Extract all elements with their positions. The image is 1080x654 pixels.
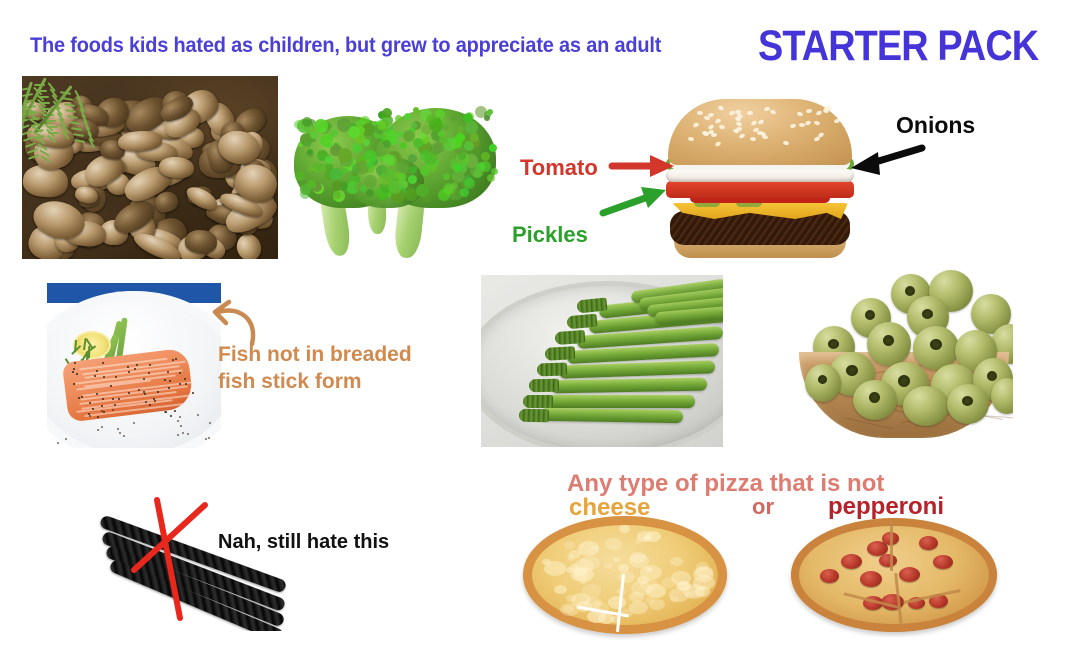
pepperoni-slice <box>860 571 882 587</box>
broccoli-bud <box>420 150 431 161</box>
melted-cheese-blob <box>608 596 626 609</box>
melted-cheese-blob <box>566 567 575 573</box>
broccoli-bud <box>377 121 386 130</box>
broccoli-bud <box>382 167 395 180</box>
burger-onion-slice <box>666 169 854 182</box>
asparagus-tip <box>523 395 553 408</box>
melted-cheese-blob <box>629 592 644 602</box>
broccoli-bud <box>438 189 450 201</box>
broccoli-bud <box>487 109 493 115</box>
melted-cheese-blob <box>591 545 599 550</box>
broccoli-bud <box>457 126 464 133</box>
broccoli-bud <box>410 122 417 129</box>
melted-cheese-blob <box>619 525 630 533</box>
broccoli-bud <box>388 180 402 194</box>
title-bar: The foods kids hated as children, but gr… <box>0 28 1080 76</box>
melted-cheese-blob <box>645 531 661 542</box>
melted-cheese-blob <box>613 557 620 562</box>
broccoli-bud <box>398 173 406 181</box>
asparagus-spear <box>541 408 683 423</box>
melted-cheese-blob <box>568 556 575 561</box>
broccoli-bud <box>342 168 348 174</box>
sesame-seed <box>799 123 805 127</box>
label-nah-still-hate-this: Nah, still hate this <box>218 531 389 554</box>
olive <box>991 378 1013 414</box>
left-arrow-black-icon <box>851 148 922 175</box>
pepperoni-slice <box>879 554 897 567</box>
broccoli-bud <box>411 166 417 172</box>
olive-pit-hole <box>905 286 915 296</box>
olive-pit-hole <box>922 309 933 319</box>
melted-cheese-blob <box>676 581 690 591</box>
photo-broccoli <box>288 98 505 261</box>
broccoli-bud <box>439 135 448 144</box>
broccoli-bud <box>400 142 407 149</box>
broccoli-bud <box>455 148 461 154</box>
label-pizza-cheese: cheese <box>569 494 650 522</box>
page-title: The foods kids hated as children, but gr… <box>30 34 661 58</box>
asparagus-tip <box>566 314 597 330</box>
label-onions: Onions <box>896 112 975 139</box>
broccoli-bud <box>460 188 469 197</box>
meme-canvas: The foods kids hated as children, but gr… <box>0 0 1080 654</box>
label-pizza-pepperoni: pepperoni <box>828 493 944 521</box>
broccoli-bud <box>300 184 311 195</box>
burger-tomato-slice <box>666 181 854 198</box>
melted-cheese-blob <box>542 559 551 565</box>
broccoli-bud <box>408 175 417 184</box>
melted-cheese-blob <box>685 592 694 598</box>
broccoli-bud <box>383 140 391 148</box>
pepperoni-slice <box>899 567 920 582</box>
melted-cheese-blob <box>693 575 715 590</box>
broccoli-bud <box>481 152 490 161</box>
melted-cheese-blob <box>646 584 666 598</box>
melted-cheese-blob <box>554 585 567 594</box>
photo-licorice <box>95 486 310 631</box>
broccoli-bud <box>491 168 498 175</box>
olive-pit-hole <box>865 310 875 320</box>
burger-patty <box>670 211 850 245</box>
broccoli-bud <box>366 162 372 168</box>
broccoli-bud <box>382 108 392 118</box>
pizza-slice-cut <box>890 521 893 571</box>
photo-olives <box>795 268 1013 448</box>
photo-asparagus <box>481 275 723 447</box>
asparagus-spear <box>551 378 707 394</box>
pepperoni-slice <box>820 569 839 583</box>
melted-cheese-blob <box>629 601 648 614</box>
sesame-seed <box>747 111 753 115</box>
olive-pit-hole <box>930 339 942 350</box>
broccoli-bud <box>484 115 490 121</box>
melted-cheese-blob <box>573 567 594 582</box>
asparagus-tip <box>555 330 586 345</box>
melted-cheese-blob <box>618 564 629 572</box>
olive-pit-hole <box>828 339 839 349</box>
pepperoni-slice <box>933 555 953 569</box>
pepperoni-slice <box>841 554 862 569</box>
broccoli-bud <box>295 171 305 181</box>
label-tomato: Tomato <box>520 155 598 181</box>
broccoli-bud <box>395 115 402 122</box>
broccoli-bud <box>480 161 491 172</box>
label-pizza-or: or <box>752 494 774 520</box>
melted-cheese-blob <box>604 563 613 569</box>
olive-pit-hole <box>962 396 973 406</box>
pepper-speck <box>208 437 210 439</box>
broccoli-bud <box>413 138 423 148</box>
olive-pit-hole <box>818 375 827 384</box>
broccoli-bud <box>352 143 362 153</box>
broccoli-bud <box>330 168 342 180</box>
olive-pit-hole <box>869 392 880 403</box>
pepper-speck <box>57 442 59 444</box>
photo-pizza-cheese <box>515 512 735 640</box>
asparagus-tip <box>529 379 559 393</box>
broccoli-bud <box>348 126 360 138</box>
melted-cheese-blob <box>645 597 655 604</box>
broccoli-bud <box>302 117 312 127</box>
melted-cheese-blob <box>571 593 591 607</box>
broccoli-bud <box>451 116 457 122</box>
sesame-seed <box>703 132 709 136</box>
broccoli-bud <box>487 174 495 182</box>
broccoli-bud <box>333 192 339 198</box>
broccoli-bud <box>320 134 333 147</box>
photo-mushrooms <box>22 76 278 259</box>
broccoli-bud <box>489 144 497 152</box>
broccoli-bud <box>426 114 437 125</box>
olive-pit-hole <box>846 365 858 376</box>
broccoli-bud <box>338 148 352 162</box>
broccoli-bud <box>344 121 350 127</box>
broccoli-bud <box>464 141 474 151</box>
broccoli-bud <box>450 194 456 200</box>
broccoli-bud <box>360 185 367 192</box>
photo-pizza-pepperoni <box>785 515 1003 637</box>
asparagus-spear <box>545 395 695 408</box>
broccoli-bud <box>325 156 333 164</box>
broccoli-bud <box>413 107 419 113</box>
melted-cheese-blob <box>564 541 575 549</box>
broccoli-bud <box>313 162 322 171</box>
label-fish-not-breaded: Fish not in breaded fish stick form <box>218 342 448 396</box>
asparagus-tip <box>537 362 567 376</box>
melted-cheese-blob <box>605 538 622 550</box>
broccoli-bud <box>416 184 429 197</box>
broccoli-bud <box>383 154 394 165</box>
broccoli-bud <box>320 127 326 133</box>
olive-pit-hole <box>898 375 910 387</box>
up-right-arrow-green-icon <box>603 187 666 213</box>
photo-salmon <box>47 283 221 448</box>
broccoli-bud <box>366 189 374 197</box>
pepperoni-slice <box>919 536 938 550</box>
dill-frond <box>88 346 90 358</box>
olive-pit-hole <box>883 335 894 346</box>
broccoli-bud <box>307 149 313 155</box>
broccoli-bud <box>453 163 462 172</box>
starter-pack-title: STARTER PACK <box>758 22 1038 71</box>
melted-cheese-blob <box>635 539 641 544</box>
broccoli-bud <box>332 180 343 191</box>
broccoli-bud <box>443 173 450 180</box>
broccoli-bud <box>404 113 411 120</box>
asparagus-tip <box>545 346 576 361</box>
broccoli-bud <box>442 124 449 131</box>
broccoli-bud <box>397 131 403 137</box>
broccoli-bud <box>463 113 473 123</box>
melted-cheese-blob <box>670 557 683 566</box>
asparagus-tip <box>519 409 549 423</box>
olive-pit-hole <box>987 371 997 381</box>
broccoli-bud <box>429 164 437 172</box>
broccoli-bud <box>456 133 465 142</box>
label-pickles: Pickles <box>512 222 588 248</box>
broccoli-bud <box>408 154 417 163</box>
photo-burger <box>660 95 860 260</box>
melted-cheese-blob <box>629 554 649 568</box>
broccoli-bud <box>464 178 475 189</box>
broccoli-bud <box>305 141 311 147</box>
olive <box>903 386 949 426</box>
